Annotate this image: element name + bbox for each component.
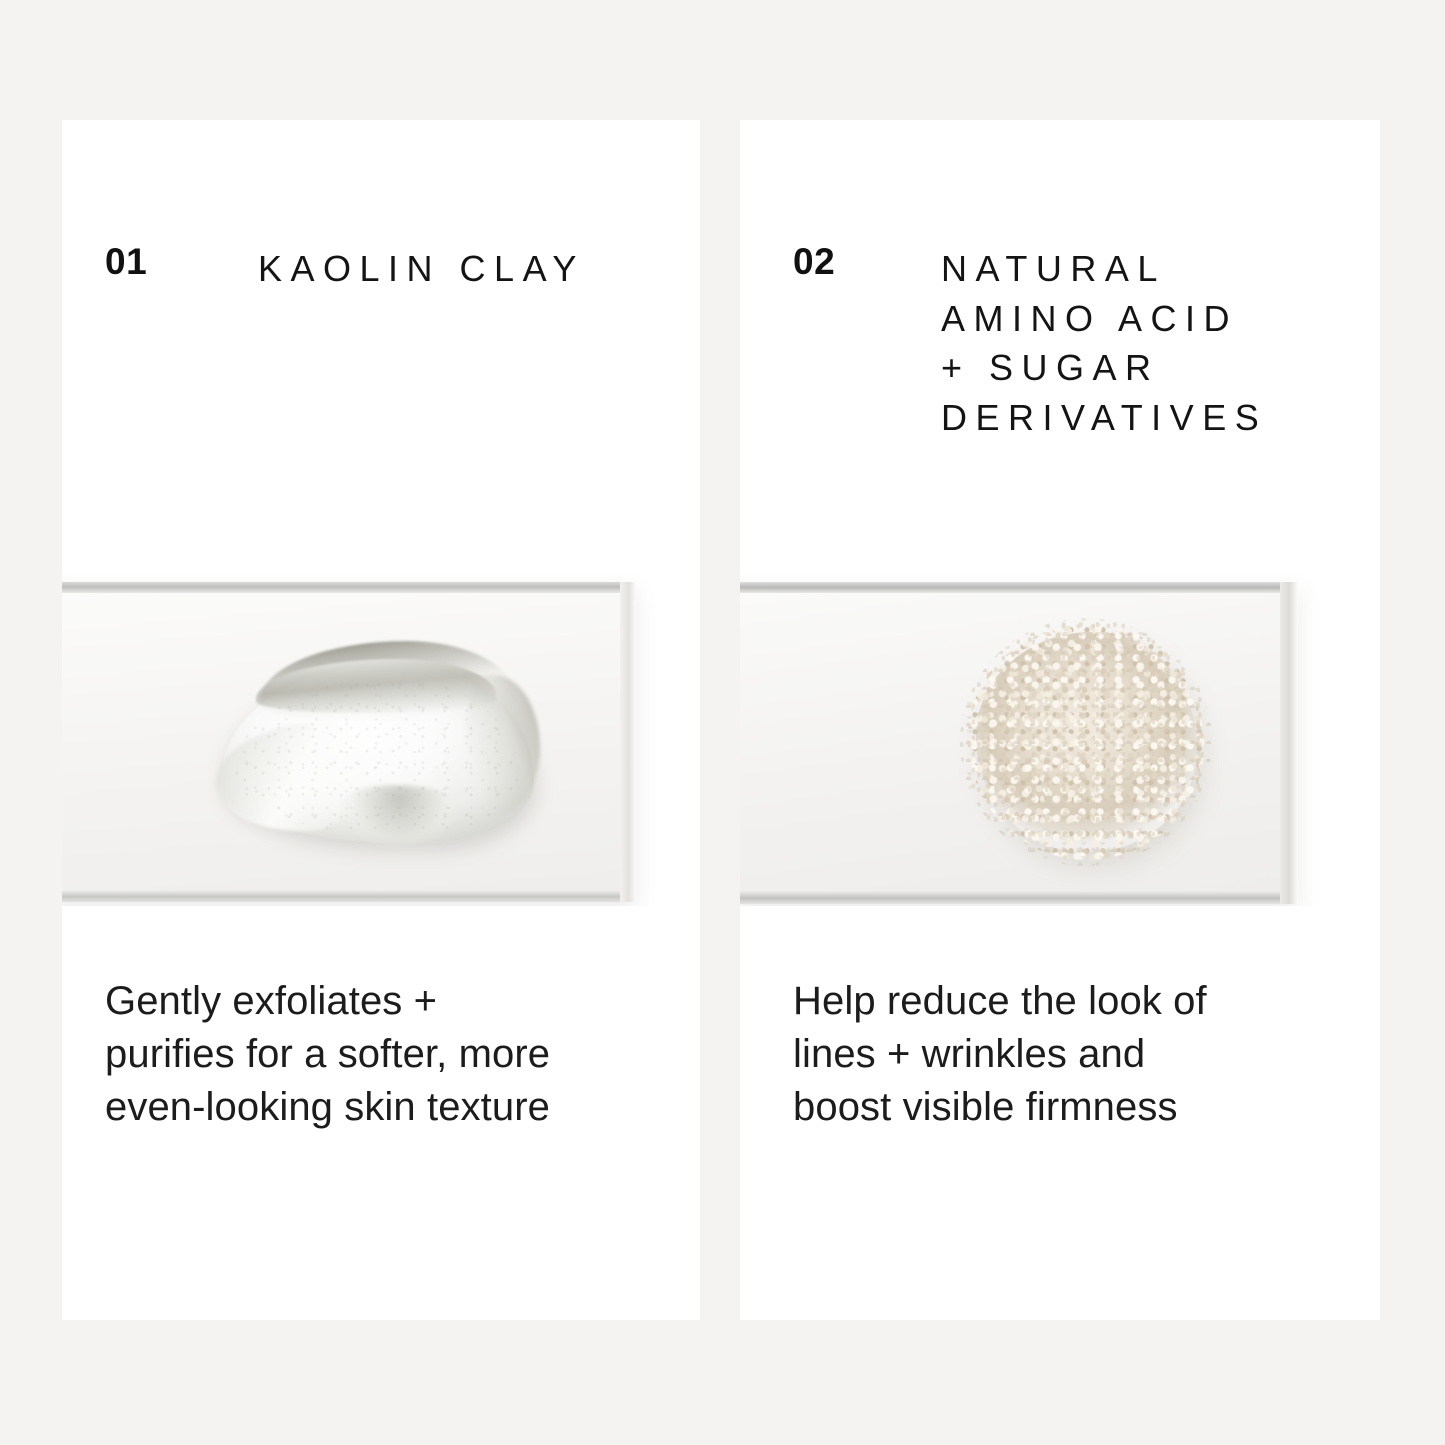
- swatch-tray-01: [62, 582, 636, 902]
- ingredient-card-amino-acid-sugar: 02 NATURAL AMINO ACID + SUGAR DERIVATIVE…: [740, 120, 1380, 1320]
- tray-edge-bottom-02: [740, 891, 1298, 904]
- ingredient-title-01: KAOLIN CLAY: [258, 244, 678, 294]
- tray-edge-top-02: [740, 582, 1298, 593]
- ingredient-card-kaolin-clay: 01 KAOLIN CLAY Gently exfoli: [62, 120, 700, 1320]
- ingredient-description-01: Gently exfoliates + purifies for a softe…: [105, 975, 650, 1133]
- powder-mound-graphic: [960, 618, 1212, 866]
- tray-edge-right-01: [620, 582, 636, 902]
- swatch-tray-02: [740, 582, 1298, 904]
- card-header-01: 01 KAOLIN CLAY: [62, 120, 700, 572]
- ingredient-image-kaolin-clay: [62, 572, 700, 906]
- ingredient-number-01: 01: [105, 243, 147, 280]
- ingredient-title-02: NATURAL AMINO ACID + SUGAR DERIVATIVES: [941, 244, 1371, 443]
- ingredient-description-02: Help reduce the look of lines + wrinkles…: [793, 975, 1273, 1133]
- ingredient-image-amino-acid-sugar: [740, 572, 1380, 906]
- ingredient-panel: 01 KAOLIN CLAY Gently exfoli: [0, 0, 1445, 1445]
- tray-edge-bottom-01: [62, 890, 636, 902]
- card-header-02: 02 NATURAL AMINO ACID + SUGAR DERIVATIVE…: [740, 120, 1380, 572]
- tray-edge-top-01: [62, 582, 636, 593]
- ingredient-number-02: 02: [793, 243, 835, 280]
- clay-smear-graphic: [214, 639, 544, 854]
- tray-edge-right-02: [1280, 582, 1298, 904]
- powder-mound-fringe: [960, 618, 1212, 866]
